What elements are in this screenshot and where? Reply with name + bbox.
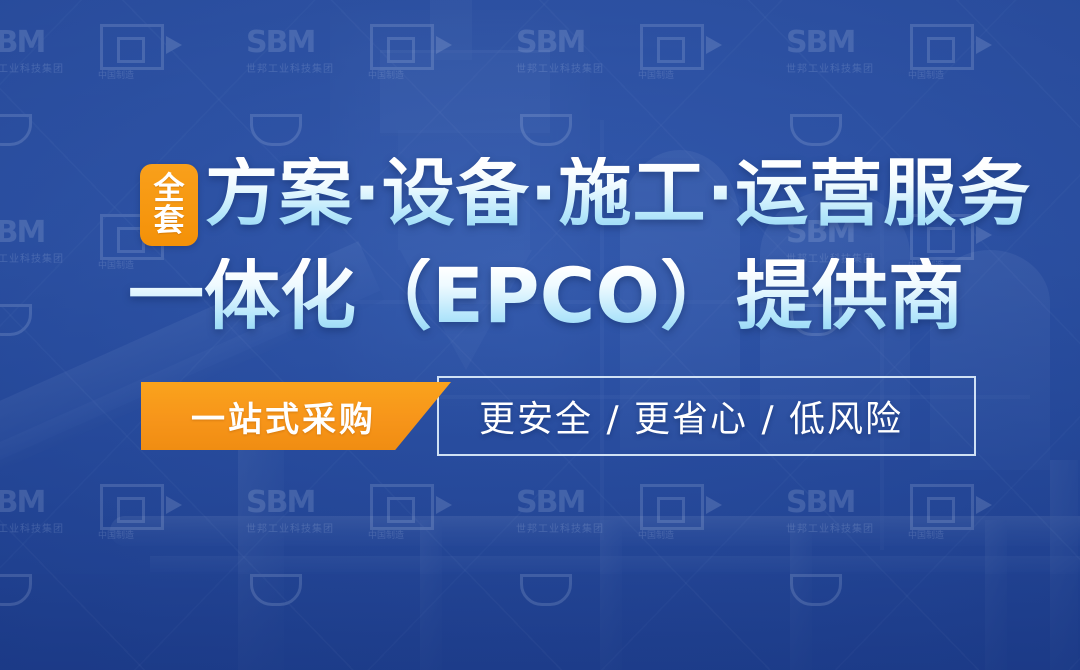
tag-label: 一站式采购 xyxy=(191,392,376,441)
banner-content: 全 套 方案·设备·施工·运营服务 一体化（EPCO）提供商 一站式采购 更安全… xyxy=(0,0,1080,670)
headline-line-2: 一体化（EPCO）提供商 xyxy=(128,258,964,334)
one-stop-purchase-tag: 一站式采购 xyxy=(141,382,451,450)
benefits-text: 更安全 / 更省心 / 低风险 xyxy=(479,376,903,456)
badge-line-1: 全 xyxy=(154,173,185,205)
headline-line-1: 方案·设备·施工·运营服务 xyxy=(205,157,1031,230)
promo-banner: SBM 世邦工业科技集团 中国制造 SBM 世邦工业科技集团 中国制造 SBM … xyxy=(0,0,1080,670)
full-set-badge: 全 套 xyxy=(140,164,198,246)
benefits-strip: 一站式采购 更安全 / 更省心 / 低风险 xyxy=(141,376,976,456)
badge-line-2: 套 xyxy=(154,205,185,237)
